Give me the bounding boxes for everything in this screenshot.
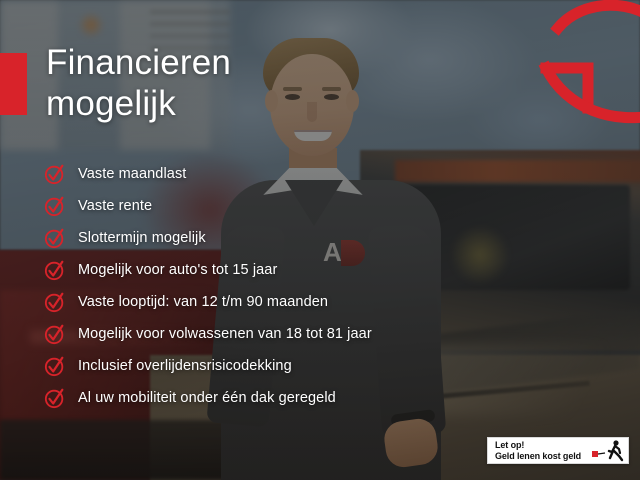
check-circle-icon (44, 323, 66, 345)
list-item-label: Vaste rente (78, 198, 152, 214)
feature-list: Vaste maandlast Vaste rente Slottermijn … (44, 158, 514, 414)
list-item-label: Inclusief overlijdensrisicodekking (78, 358, 292, 374)
list-item: Vaste looptijd: van 12 t/m 90 maanden (44, 286, 514, 318)
circular-arrow-logo-icon (528, 0, 640, 131)
check-circle-icon (44, 355, 66, 377)
list-item: Inclusief overlijdensrisicodekking (44, 350, 514, 382)
list-item: Mogelijk voor volwassenen van 18 tot 81 … (44, 318, 514, 350)
list-item-label: Mogelijk voor volwassenen van 18 tot 81 … (78, 326, 372, 342)
list-item-label: Slottermijn mogelijk (78, 230, 206, 246)
credit-warning-text: Let op! Geld lenen kost geld (495, 440, 592, 461)
check-circle-icon (44, 259, 66, 281)
list-item-label: Mogelijk voor auto's tot 15 jaar (78, 262, 277, 278)
check-circle-icon (44, 387, 66, 409)
check-circle-icon (44, 227, 66, 249)
red-accent-block (0, 53, 27, 115)
check-circle-icon (44, 195, 66, 217)
check-circle-icon (44, 163, 66, 185)
financing-banner: A Financieren mogelijk Vaste maandlast (0, 0, 640, 480)
page-title: Financieren mogelijk (46, 42, 476, 124)
check-circle-icon (44, 291, 66, 313)
list-item-label: Vaste looptijd: van 12 t/m 90 maanden (78, 294, 328, 310)
list-item: Mogelijk voor auto's tot 15 jaar (44, 254, 514, 286)
list-item: Vaste maandlast (44, 158, 514, 190)
list-item: Al uw mobiliteit onder één dak geregeld (44, 382, 514, 414)
list-item: Vaste rente (44, 190, 514, 222)
list-item-label: Vaste maandlast (78, 166, 186, 182)
list-item-label: Al uw mobiliteit onder één dak geregeld (78, 390, 336, 406)
credit-warning-badge: Let op! Geld lenen kost geld (487, 437, 629, 464)
man-pulling-weight-icon (592, 440, 624, 462)
list-item: Slottermijn mogelijk (44, 222, 514, 254)
